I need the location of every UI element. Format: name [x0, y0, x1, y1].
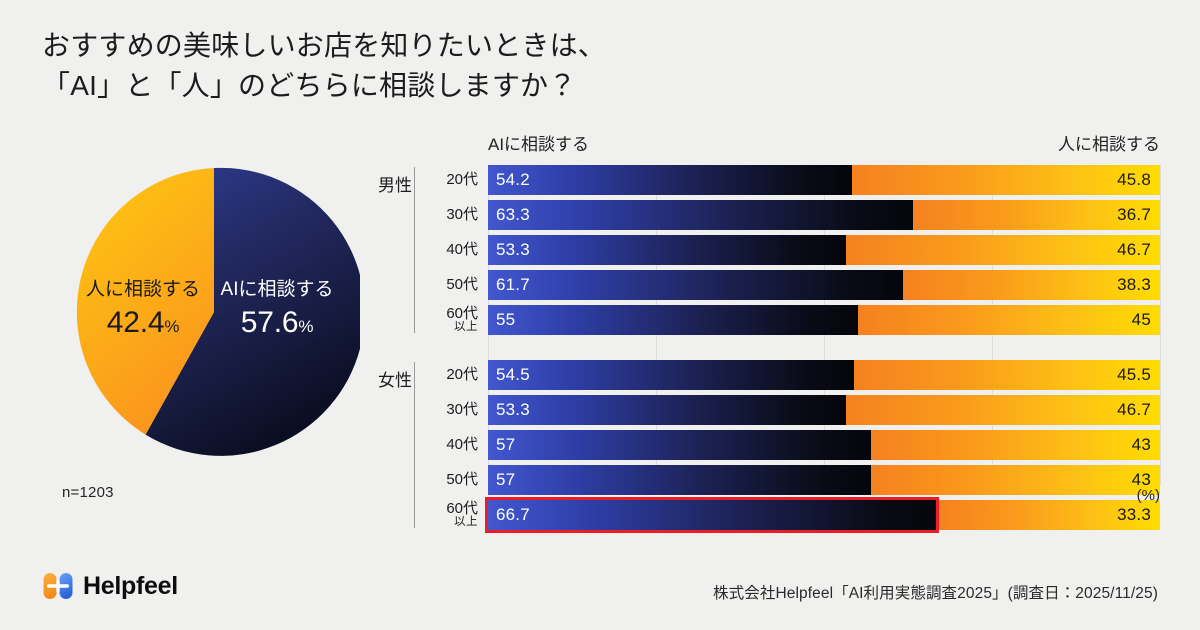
bar-track: 53.346.7 — [488, 235, 1160, 265]
row-age-label: 60代以上 — [416, 306, 478, 334]
gender-separator-male — [414, 167, 415, 333]
bar-segment-human: 36.7 — [913, 200, 1160, 230]
bar-value-ai: 55 — [496, 310, 515, 330]
page-title-line-2: 「AI」と「人」のどちらに相談しますか？ — [42, 66, 742, 106]
source-attribution: 株式会社Helpfeel「AI利用実態調査2025」(調査日：2025/11/2… — [713, 581, 1158, 603]
bar-row: 30代63.336.7 — [378, 200, 1168, 230]
bar-segment-ai: 63.3 — [488, 200, 913, 230]
bar-track: 63.336.7 — [488, 200, 1160, 230]
helpfeel-logo-icon — [42, 570, 74, 602]
bar-track: 5743 — [488, 465, 1160, 495]
bar-segment-ai: 57 — [488, 465, 871, 495]
bar-value-ai: 63.3 — [496, 205, 530, 225]
bar-segment-ai: 54.2 — [488, 165, 852, 195]
bar-row: 50代61.738.3 — [378, 270, 1168, 300]
bar-value-human: 38.3 — [1117, 275, 1151, 295]
bar-segment-ai: 57 — [488, 430, 871, 460]
bar-value-ai: 54.5 — [496, 365, 530, 385]
bar-row: 40代53.346.7 — [378, 235, 1168, 265]
bar-value-human: 45.5 — [1117, 365, 1151, 385]
bar-segment-human: 33.3 — [936, 500, 1160, 530]
brand-logo: Helpfeel — [42, 570, 178, 602]
bar-value-human: 45 — [1132, 310, 1151, 330]
pie-chart — [68, 166, 360, 458]
bar-track: 54.545.5 — [488, 360, 1160, 390]
bar-segment-human: 38.3 — [903, 270, 1160, 300]
brand-name: Helpfeel — [83, 572, 178, 601]
bar-value-ai: 57 — [496, 435, 515, 455]
bar-track: 61.738.3 — [488, 270, 1160, 300]
bar-value-ai: 54.2 — [496, 170, 530, 190]
bar-track: 66.733.3 — [488, 500, 1160, 530]
axis-unit-label: (%) — [1137, 487, 1160, 504]
bar-segment-human: 45.8 — [852, 165, 1160, 195]
bar-track: 5743 — [488, 430, 1160, 460]
bar-row: 40代5743 — [378, 430, 1168, 460]
row-age-label: 30代 — [416, 402, 478, 418]
page-title-line-1: おすすめの美味しいお店を知りたいときは、 — [42, 26, 742, 66]
bar-segment-ai: 53.3 — [488, 395, 846, 425]
bar-segment-human: 46.7 — [846, 395, 1160, 425]
bar-segment-human: 45.5 — [854, 360, 1160, 390]
bar-segment-human: 45 — [858, 305, 1160, 335]
bar-value-ai: 53.3 — [496, 240, 530, 260]
bar-segment-ai: 54.5 — [488, 360, 854, 390]
bar-value-human: 46.7 — [1117, 240, 1151, 260]
bar-track: 54.245.8 — [488, 165, 1160, 195]
row-age-label: 40代 — [416, 242, 478, 258]
bar-segment-human: 46.7 — [846, 235, 1160, 265]
row-age-label: 20代 — [416, 367, 478, 383]
gender-separator-female — [414, 362, 415, 528]
bar-value-human: 36.7 — [1117, 205, 1151, 225]
gender-label-male: 男性 — [378, 171, 412, 196]
bar-value-ai: 66.7 — [496, 505, 530, 525]
bar-row: 60代以上5545 — [378, 305, 1168, 335]
bar-segment-ai-highlighted: 66.7 — [488, 500, 936, 530]
row-age-label: 50代 — [416, 472, 478, 488]
bar-row: 20代54.545.5 — [378, 360, 1168, 390]
bar-segment-human: 43 — [871, 430, 1160, 460]
row-age-label: 60代以上 — [416, 501, 478, 529]
bar-value-ai: 61.7 — [496, 275, 530, 295]
row-age-label: 20代 — [416, 172, 478, 188]
bar-segment-ai: 61.7 — [488, 270, 903, 300]
bar-row: 30代53.346.7 — [378, 395, 1168, 425]
legend-label-human: 人に相談する — [1058, 130, 1160, 155]
bar-row: 50代5743 — [378, 465, 1168, 495]
bar-value-ai: 53.3 — [496, 400, 530, 420]
bar-value-human: 43 — [1132, 435, 1151, 455]
bar-chart-legend: AIに相談する 人に相談する — [488, 130, 1160, 160]
bar-value-human: 46.7 — [1117, 400, 1151, 420]
bar-row: 60代以上66.733.3 — [378, 500, 1168, 530]
bar-segment-ai: 55 — [488, 305, 858, 335]
bar-chart-section: AIに相談する 人に相談する 20代54.245.830代63.336.740代… — [378, 130, 1168, 530]
bar-row: 20代54.245.8 — [378, 165, 1168, 195]
bar-track: 5545 — [488, 305, 1160, 335]
bar-value-ai: 57 — [496, 470, 515, 490]
bar-segment-ai: 53.3 — [488, 235, 846, 265]
legend-label-ai: AIに相談する — [488, 130, 589, 155]
bar-value-human: 33.3 — [1117, 505, 1151, 525]
pie-chart-section: AIに相談する 57.6% 人に相談する 42.4% n=1203 — [62, 166, 372, 516]
gender-label-female: 女性 — [378, 366, 412, 391]
bar-segment-human: 43 — [871, 465, 1160, 495]
row-age-sublabel: 以上 — [416, 322, 478, 334]
page-title: おすすめの美味しいお店を知りたいときは、 「AI」と「人」のどちらに相談しますか… — [42, 26, 742, 106]
row-age-label: 50代 — [416, 277, 478, 293]
bar-track: 53.346.7 — [488, 395, 1160, 425]
bar-value-human: 45.8 — [1117, 170, 1151, 190]
row-age-sublabel: 以上 — [416, 517, 478, 529]
bar-rows-area: 20代54.245.830代63.336.740代53.346.750代61.7… — [378, 165, 1168, 515]
row-age-label: 30代 — [416, 207, 478, 223]
pie-sample-size: n=1203 — [62, 484, 114, 501]
row-age-label: 40代 — [416, 437, 478, 453]
